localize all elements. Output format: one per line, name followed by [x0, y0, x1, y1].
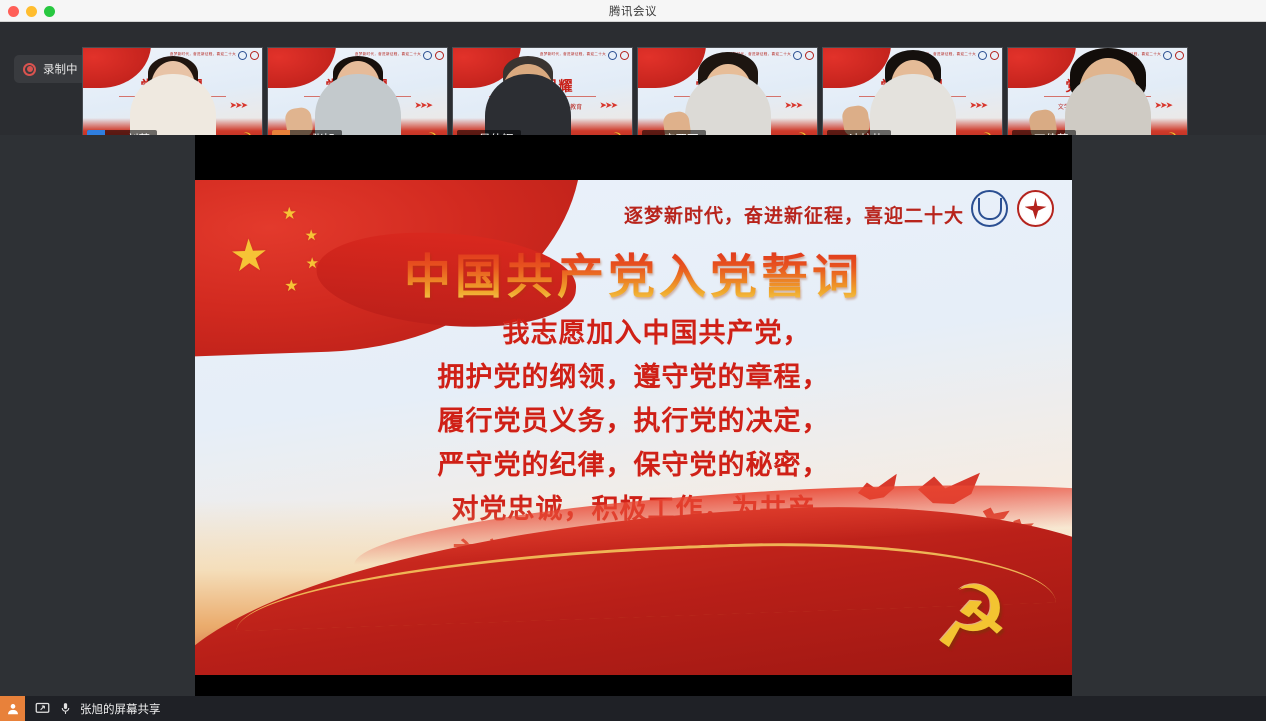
window-title: 腾讯会议 — [0, 3, 1266, 19]
record-dot-icon — [23, 63, 36, 76]
participant-filmstrip: 录制中 逐梦新时代，奋进新征程，喜迎二十大 党徽闪耀 文学院2022届毕业生党员… — [0, 22, 1266, 135]
university-seal-blue-icon — [238, 51, 247, 60]
university-seal-blue-icon — [608, 51, 617, 60]
screen-share-bar: 张旭的屏幕共享 — [0, 696, 1266, 721]
slide-header-text: 逐梦新时代，奋进新征程，喜迎二十大 — [624, 201, 964, 228]
oath-line: 拥护党的纲领，遵守党的章程， — [195, 364, 1072, 391]
minimize-button[interactable] — [26, 6, 37, 17]
doves-icon: ➤➤➤ — [599, 100, 616, 111]
window-titlebar: 腾讯会议 — [0, 0, 1266, 22]
screen-share-icon[interactable] — [35, 701, 50, 716]
doves-icon: ➤➤➤ — [414, 100, 431, 111]
member-avatar-icon — [0, 696, 25, 721]
recording-indicator: 录制中 — [14, 55, 89, 83]
oath-line: 我志愿加入中国共产党， — [195, 320, 1072, 347]
screen-share-chip[interactable]: 张旭的屏幕共享 — [0, 696, 161, 721]
shared-slide[interactable]: ★ ★ ★ ★ ★ 逐梦新时代，奋进新征程，喜迎二十大 中国共产党入党誓词 我志… — [195, 180, 1072, 675]
university-seal-red-icon — [620, 51, 629, 60]
university-seal-red-icon — [1175, 51, 1184, 60]
university-seal-blue-icon — [793, 51, 802, 60]
recording-label: 录制中 — [43, 61, 78, 77]
flag-star-small: ★ — [282, 205, 298, 223]
university-seal-red-icon — [1017, 190, 1054, 227]
microphone-icon[interactable] — [59, 702, 72, 715]
vbg-header: 逐梦新时代，奋进新征程，喜迎二十大 — [540, 52, 606, 57]
slide-seals — [971, 190, 1054, 227]
university-seal-red-icon — [250, 51, 259, 60]
doves-icon: ➤➤➤ — [784, 100, 801, 111]
party-emblem-icon: ☭ — [933, 575, 1010, 661]
shared-screen-stage: ★ ★ ★ ★ ★ 逐梦新时代，奋进新征程，喜迎二十大 中国共产党入党誓词 我志… — [0, 135, 1266, 696]
maximize-button[interactable] — [44, 6, 55, 17]
screen-share-label: 张旭的屏幕共享 — [80, 701, 161, 717]
university-seal-blue-icon — [971, 190, 1008, 227]
university-seal-blue-icon — [978, 51, 987, 60]
traffic-light-group — [8, 6, 55, 17]
close-button[interactable] — [8, 6, 19, 17]
doves-icon: ➤➤➤ — [1154, 100, 1171, 111]
university-seal-red-icon — [805, 51, 814, 60]
university-seal-red-icon — [435, 51, 444, 60]
slide-title: 中国共产党入党誓词 — [195, 238, 1072, 307]
university-seal-red-icon — [990, 51, 999, 60]
doves-icon: ➤➤➤ — [229, 100, 246, 111]
doves-icon: ➤➤➤ — [969, 100, 986, 111]
screen-share-icons — [25, 701, 80, 716]
meeting-window: 腾讯会议 录制中 逐梦新时代，奋进新征程，喜迎二十大 党徽闪耀 文学院2022届… — [0, 0, 1266, 721]
university-seal-blue-icon — [423, 51, 432, 60]
oath-line: 履行党员义务，执行党的决定， — [195, 408, 1072, 435]
university-seal-blue-icon — [1163, 51, 1172, 60]
